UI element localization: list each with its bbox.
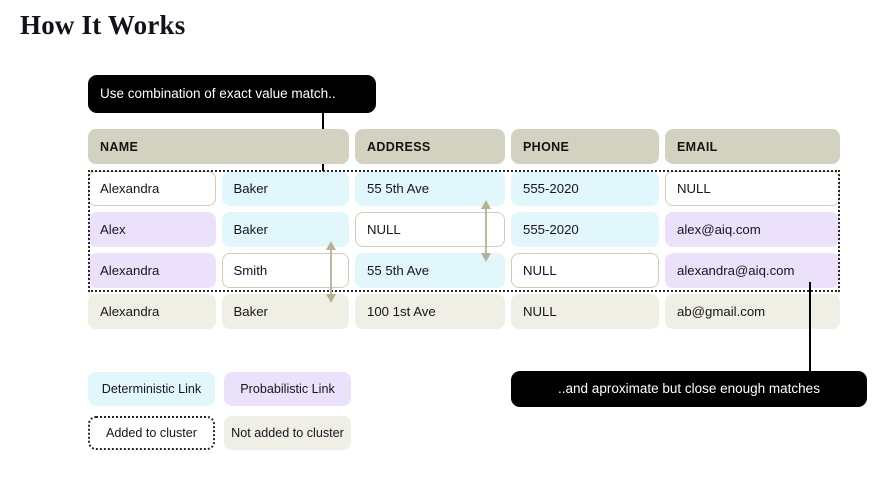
table-row[interactable]: Alexandra Baker 55 5th Ave 555-2020 NULL <box>88 171 840 206</box>
cell-group-name: Alexandra Baker <box>88 171 349 206</box>
cell-email[interactable]: alexandra@aiq.com <box>665 253 840 288</box>
cell-group-name: Alex Baker <box>88 212 349 247</box>
cell-group-name: Alexandra Smith <box>88 253 349 288</box>
table-row[interactable]: Alexandra Smith 55 5th Ave NULL alexandr… <box>88 253 840 288</box>
double-headed-arrow-last-name <box>324 241 338 303</box>
cell-email[interactable]: ab@gmail.com <box>665 294 840 329</box>
cell-last-name[interactable]: Baker <box>222 171 350 206</box>
column-header-name: NAME <box>88 129 349 164</box>
cell-first-name[interactable]: Alex <box>88 212 216 247</box>
legend-added-to-cluster: Added to cluster <box>88 416 215 450</box>
cell-phone[interactable]: NULL <box>511 294 659 329</box>
legend-row-cluster: Added to cluster Not added to cluster <box>88 416 368 450</box>
legend: Deterministic Link Probabilistic Link Ad… <box>88 372 368 460</box>
cell-phone[interactable]: NULL <box>511 253 659 288</box>
page-title: How It Works <box>20 10 185 41</box>
cell-address[interactable]: 100 1st Ave <box>355 294 505 329</box>
legend-probabilistic-link: Probabilistic Link <box>224 372 351 406</box>
leader-line-bottom <box>809 282 811 372</box>
cell-first-name[interactable]: Alexandra <box>88 253 216 288</box>
column-header-email: EMAIL <box>665 129 840 164</box>
legend-deterministic-link: Deterministic Link <box>88 372 215 406</box>
legend-not-added-to-cluster: Not added to cluster <box>224 416 351 450</box>
cell-first-name[interactable]: Alexandra <box>88 171 216 206</box>
column-header-address: ADDRESS <box>355 129 505 164</box>
cell-email[interactable]: alex@aiq.com <box>665 212 840 247</box>
cell-phone[interactable]: 555-2020 <box>511 171 659 206</box>
table-header-row: NAME ADDRESS PHONE EMAIL <box>88 129 840 164</box>
cell-first-name[interactable]: Alexandra <box>88 294 216 329</box>
callout-approximate-match: ..and aproximate but close enough matche… <box>511 371 867 407</box>
cell-phone[interactable]: 555-2020 <box>511 212 659 247</box>
cell-group-name: Alexandra Baker <box>88 294 349 329</box>
callout-exact-value-match: Use combination of exact value match.. <box>88 75 376 113</box>
legend-row-links: Deterministic Link Probabilistic Link <box>88 372 368 406</box>
table-row[interactable]: Alex Baker NULL 555-2020 alex@aiq.com <box>88 212 840 247</box>
double-headed-arrow-address <box>479 200 493 262</box>
table-row[interactable]: Alexandra Baker 100 1st Ave NULL ab@gmai… <box>88 294 840 329</box>
column-header-phone: PHONE <box>511 129 659 164</box>
cell-email[interactable]: NULL <box>665 171 840 206</box>
identity-resolution-table: NAME ADDRESS PHONE EMAIL Alexandra Baker… <box>88 129 840 335</box>
